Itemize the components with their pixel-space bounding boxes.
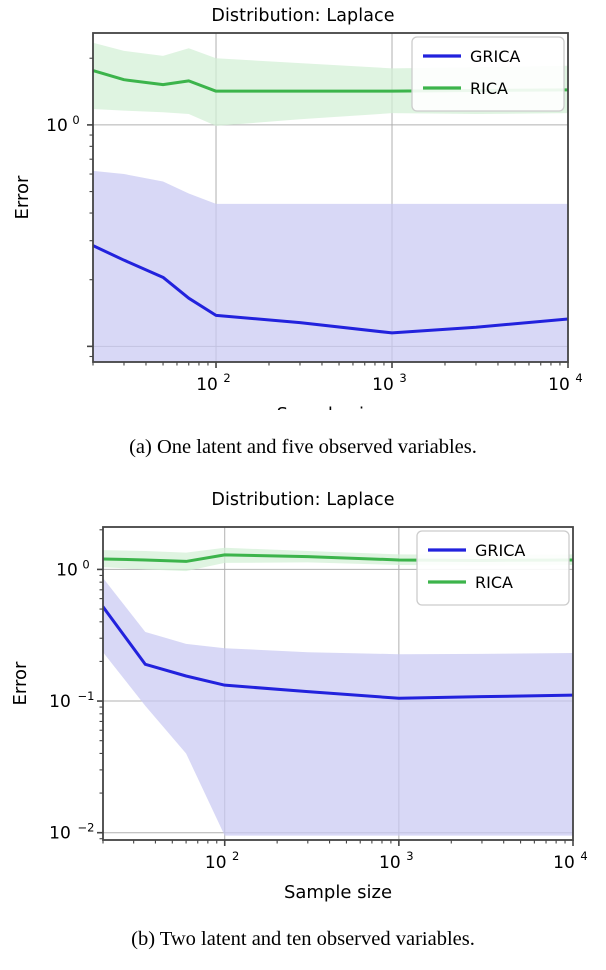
svg-text:10: 10 [196,375,218,395]
svg-text:−2: −2 [78,821,95,835]
svg-text:Sample size: Sample size [276,404,384,410]
svg-text:0: 0 [82,557,89,571]
panel-b: Distribution: Laplace 10210310410010−110… [0,485,606,970]
svg-text:10: 10 [56,560,78,580]
svg-text:3: 3 [406,849,413,863]
svg-text:10: 10 [548,375,570,395]
svg-text:−1: −1 [78,689,95,703]
svg-text:2: 2 [223,371,230,385]
svg-text:GRICA: GRICA [470,47,520,66]
svg-text:RICA: RICA [475,573,513,592]
svg-text:10: 10 [379,853,401,873]
panel-b-plot: 10210310410010−110−2Sample sizeErrorGRIC… [0,485,606,905]
svg-text:10: 10 [553,853,575,873]
svg-text:2: 2 [232,849,239,863]
svg-text:10: 10 [46,116,68,136]
svg-text:Error: Error [10,661,31,705]
svg-text:3: 3 [399,371,406,385]
panel-a-caption: (a) One latent and five observed variabl… [0,436,606,459]
svg-text:10: 10 [49,824,71,844]
svg-text:GRICA: GRICA [475,541,525,560]
svg-text:Error: Error [12,175,33,219]
svg-text:RICA: RICA [470,79,508,98]
svg-text:4: 4 [575,371,582,385]
panel-b-caption: (b) Two latent and ten observed variable… [0,928,606,951]
figure-container: Distribution: Laplace 102103104100Sample… [0,0,606,970]
svg-text:10: 10 [49,692,71,712]
svg-text:0: 0 [72,113,79,127]
svg-text:4: 4 [580,849,587,863]
svg-text:10: 10 [372,375,394,395]
svg-text:10: 10 [205,853,227,873]
panel-a-plot: 102103104100Sample sizeErrorGRICARICA [0,0,606,410]
svg-text:Sample size: Sample size [284,882,392,903]
panel-a: Distribution: Laplace 102103104100Sample… [0,0,606,470]
